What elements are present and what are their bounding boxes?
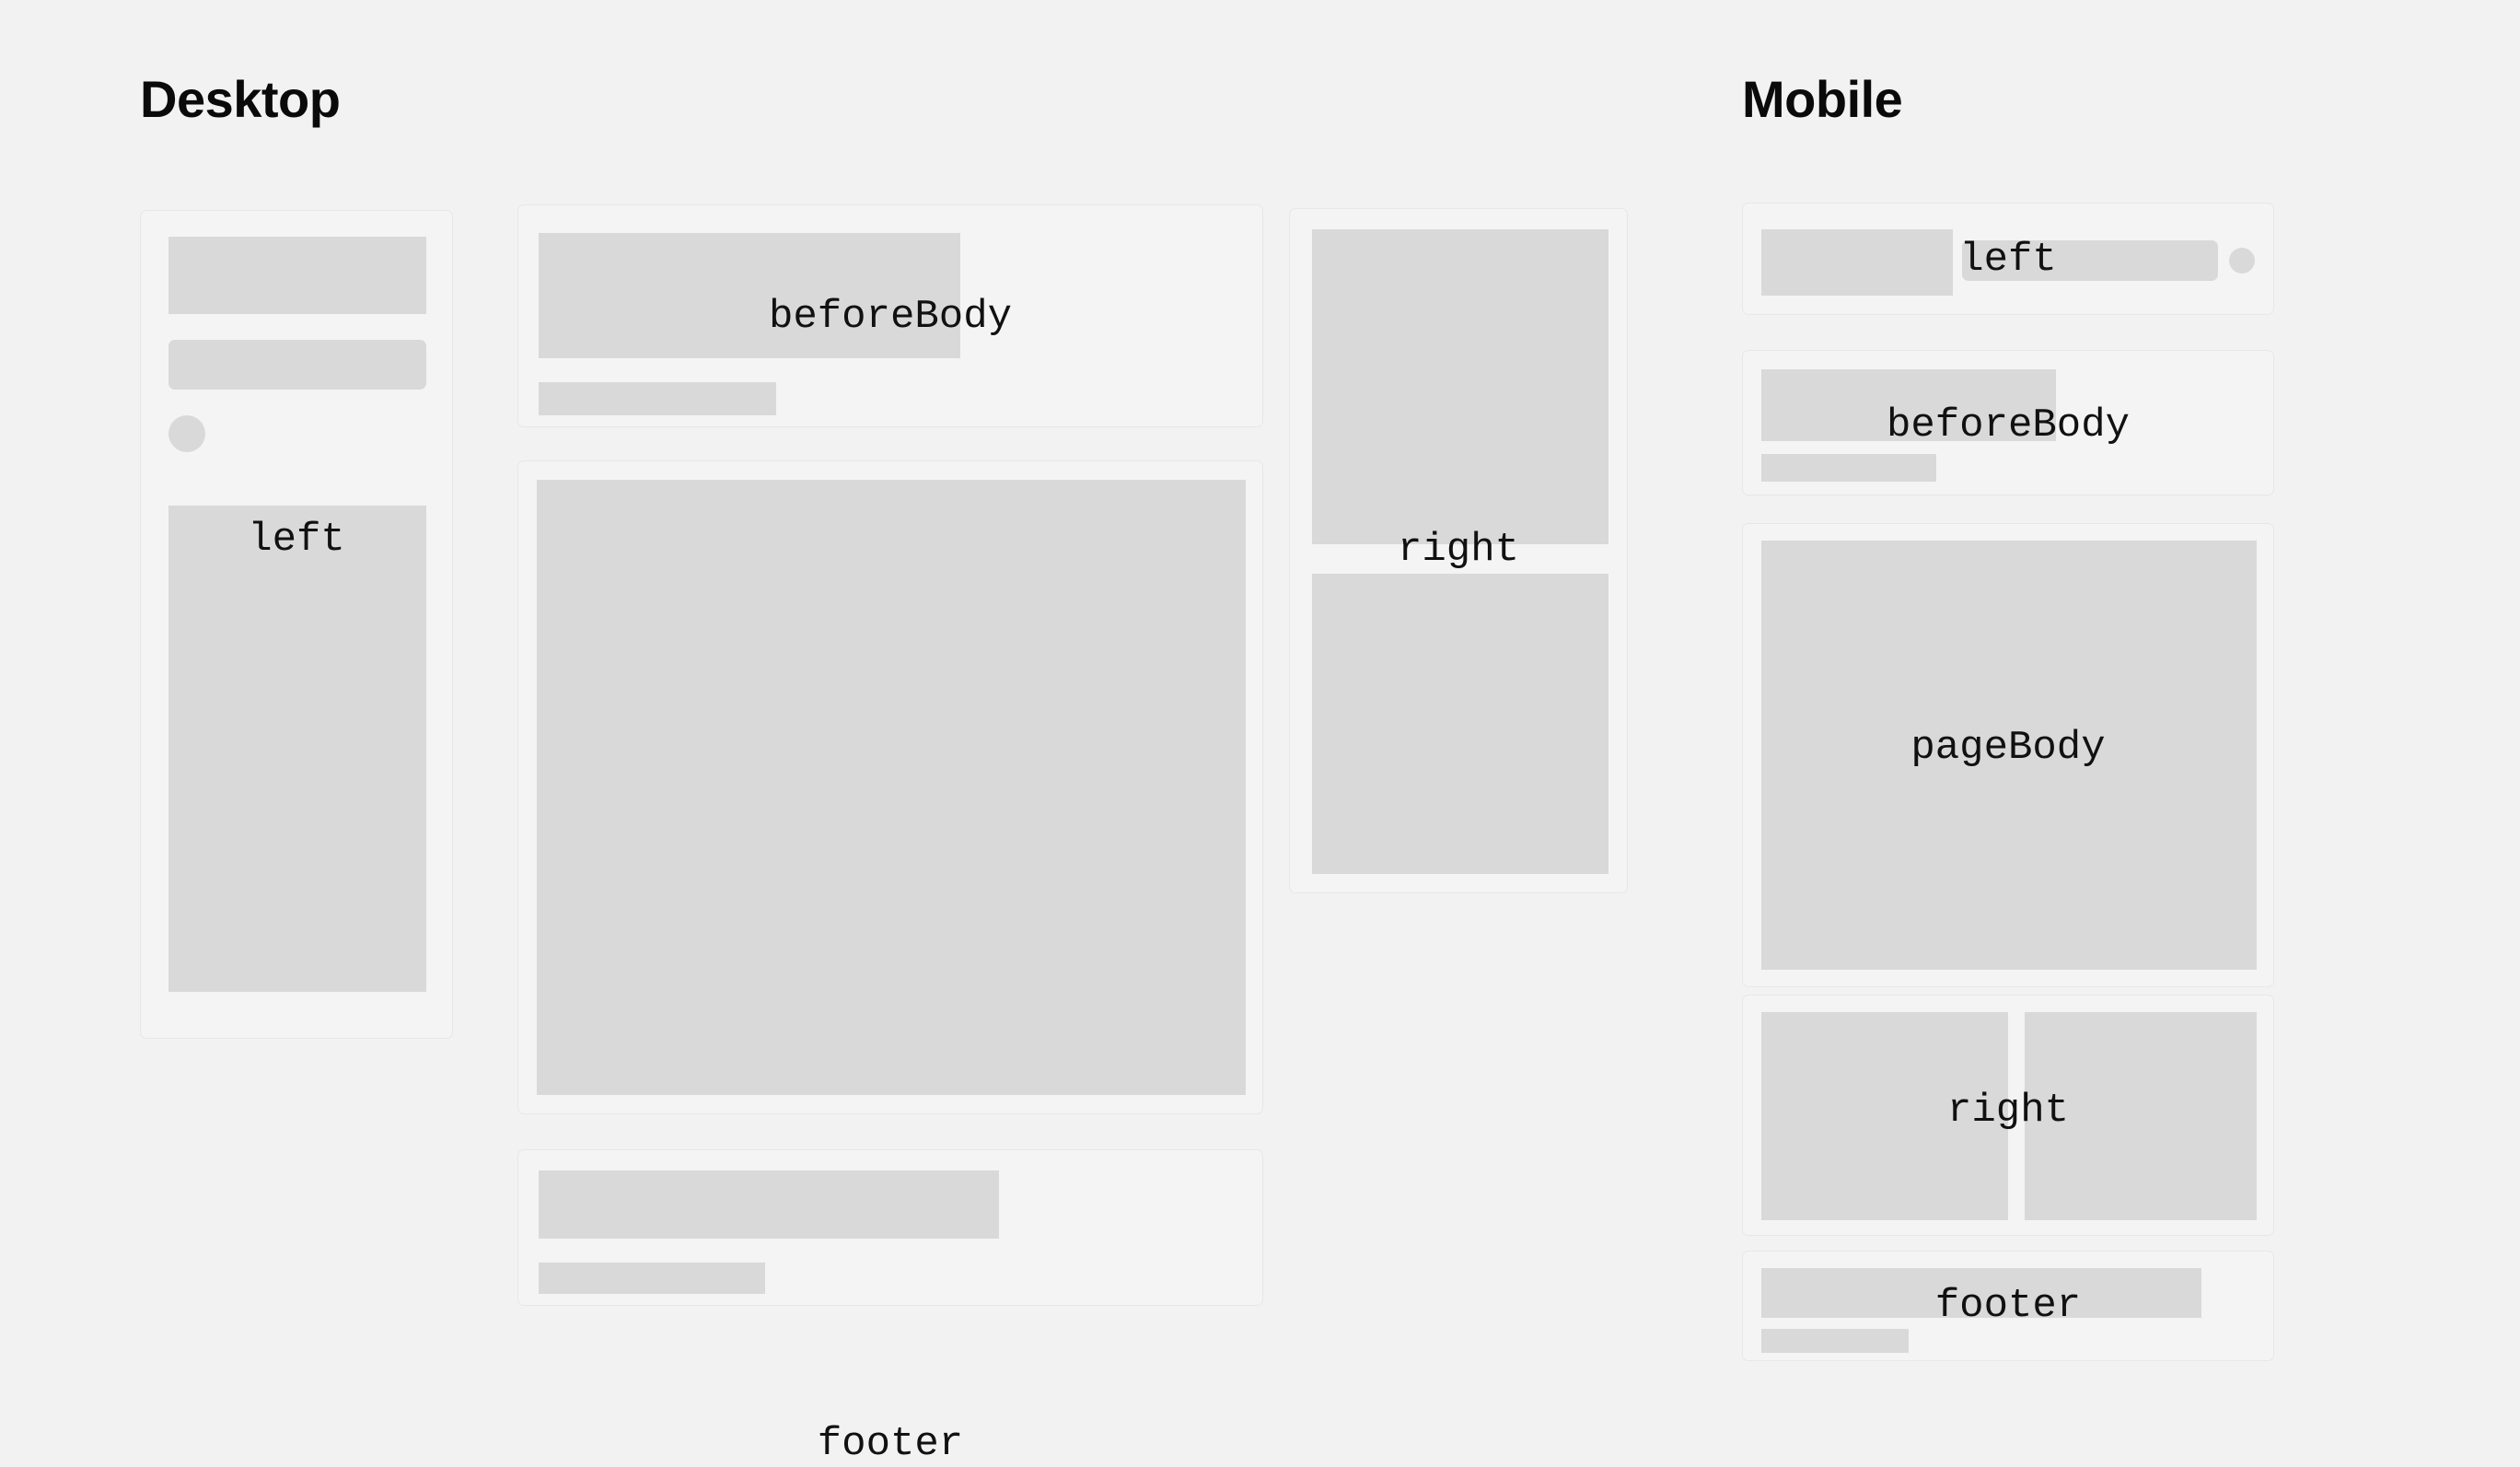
mobile-left-panel[interactable]: left (1742, 203, 2274, 315)
skeleton-block (1761, 541, 2257, 970)
desktop-section-title: Desktop (140, 74, 340, 125)
skeleton-block (1761, 1012, 2008, 1220)
mobile-right-panel[interactable]: right (1742, 995, 2274, 1236)
mobile-before-body-panel[interactable]: beforeBody (1742, 350, 2274, 495)
desktop-before-body-panel[interactable]: beforeBody (517, 204, 1263, 427)
skeleton-block (168, 506, 426, 992)
skeleton-block (1312, 229, 1608, 544)
skeleton-avatar-circle (168, 415, 205, 452)
skeleton-bar (539, 1263, 765, 1294)
skeleton-bar (1962, 240, 2218, 281)
desktop-right-panel[interactable]: right (1289, 208, 1628, 893)
skeleton-block (1312, 574, 1608, 874)
skeleton-block (1761, 229, 1953, 296)
skeleton-block (539, 233, 960, 358)
desktop-page-body-panel[interactable]: pageBody (517, 460, 1263, 1114)
desktop-footer-panel[interactable]: footer (517, 1149, 1263, 1306)
skeleton-block (168, 237, 426, 314)
desktop-left-panel[interactable]: left (140, 210, 453, 1039)
mobile-footer-panel[interactable]: footer (1742, 1251, 2274, 1361)
mobile-page-body-panel[interactable]: pageBody (1742, 523, 2274, 987)
skeleton-block (2025, 1012, 2257, 1220)
skeleton-avatar-circle (2229, 248, 2255, 274)
skeleton-block (1761, 369, 2056, 441)
skeleton-bar (168, 340, 426, 390)
mobile-section-title: Mobile (1742, 74, 1902, 125)
skeleton-bar (539, 382, 776, 415)
skeleton-block (1761, 1268, 2201, 1318)
skeleton-block (537, 480, 1246, 1095)
desktop-footer-slot-label: footer (518, 1421, 1262, 1467)
skeleton-bar (1761, 1329, 1909, 1353)
skeleton-block (539, 1170, 999, 1239)
skeleton-bar (1761, 454, 1936, 482)
